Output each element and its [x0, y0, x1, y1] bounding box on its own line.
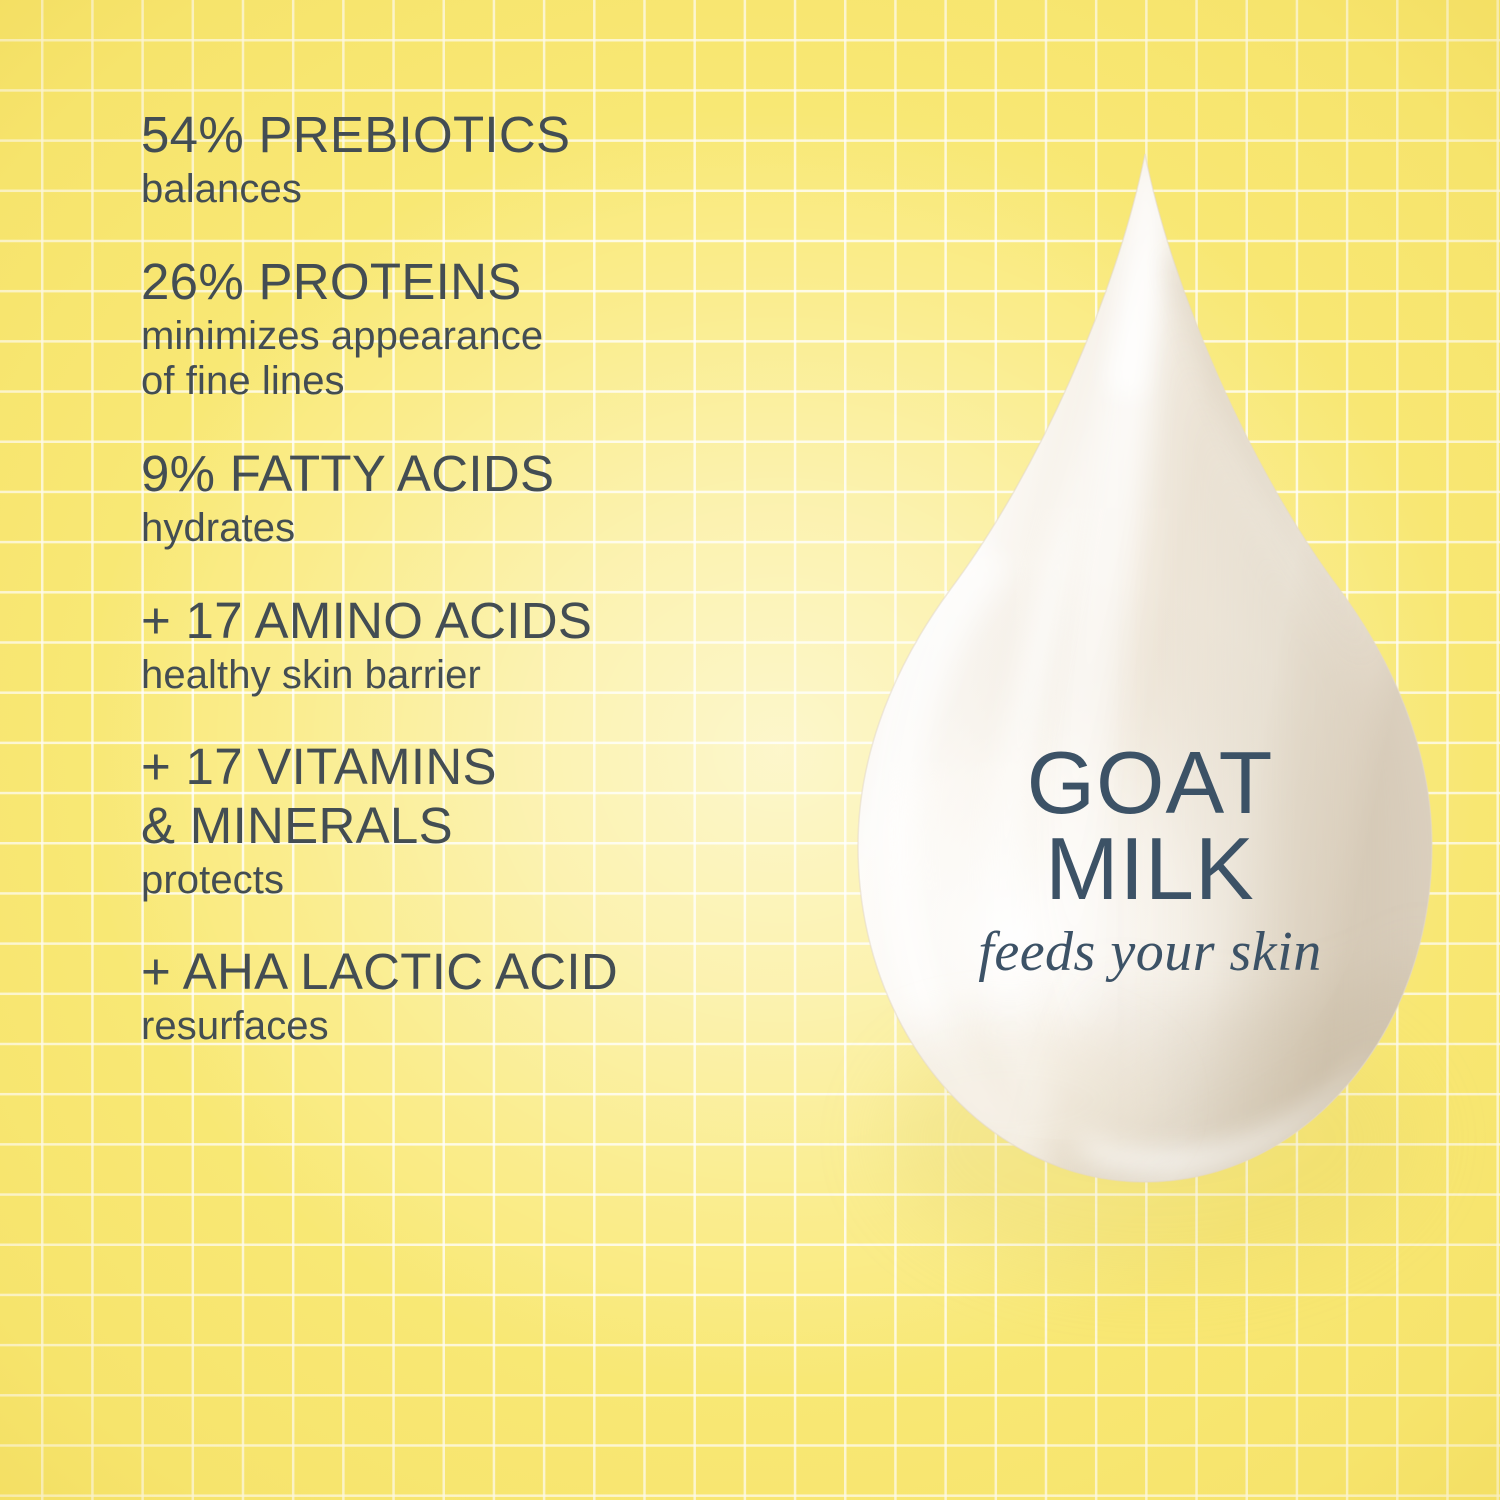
fact-headline: + 17 AMINO ACIDS — [141, 592, 861, 650]
milk-droplet-icon — [820, 140, 1480, 1220]
product-benefits-poster: 54% PREBIOTICS balances 26% PROTEINS min… — [0, 0, 1500, 1500]
fact-item: + 17 AMINO ACIDS healthy skin barrier — [141, 592, 861, 699]
fact-headline: 9% FATTY ACIDS — [141, 445, 861, 503]
fact-benefit: hydrates — [141, 506, 861, 552]
fact-headline: 26% PROTEINS — [141, 253, 861, 311]
fact-headline: + AHA LACTIC ACID — [141, 943, 861, 1001]
fact-benefit: resurfaces — [141, 1004, 861, 1050]
milk-droplet: GOAT MILK feeds your skin — [820, 140, 1480, 1220]
fact-benefit: balances — [141, 167, 861, 213]
fact-item: + AHA LACTIC ACID resurfaces — [141, 943, 861, 1050]
fact-benefit: healthy skin barrier — [141, 653, 861, 699]
fact-benefit: protects — [141, 858, 861, 904]
fact-item: 54% PREBIOTICS balances — [141, 106, 861, 213]
fact-benefit: minimizes appearance of fine lines — [141, 314, 861, 405]
fact-headline: 54% PREBIOTICS — [141, 106, 861, 164]
fact-item: + 17 VITAMINS & MINERALS protects — [141, 738, 861, 903]
ingredient-facts-list: 54% PREBIOTICS balances 26% PROTEINS min… — [141, 106, 861, 1050]
fact-item: 9% FATTY ACIDS hydrates — [141, 445, 861, 552]
fact-item: 26% PROTEINS minimizes appearance of fin… — [141, 253, 861, 405]
fact-headline: + 17 VITAMINS & MINERALS — [141, 738, 861, 854]
